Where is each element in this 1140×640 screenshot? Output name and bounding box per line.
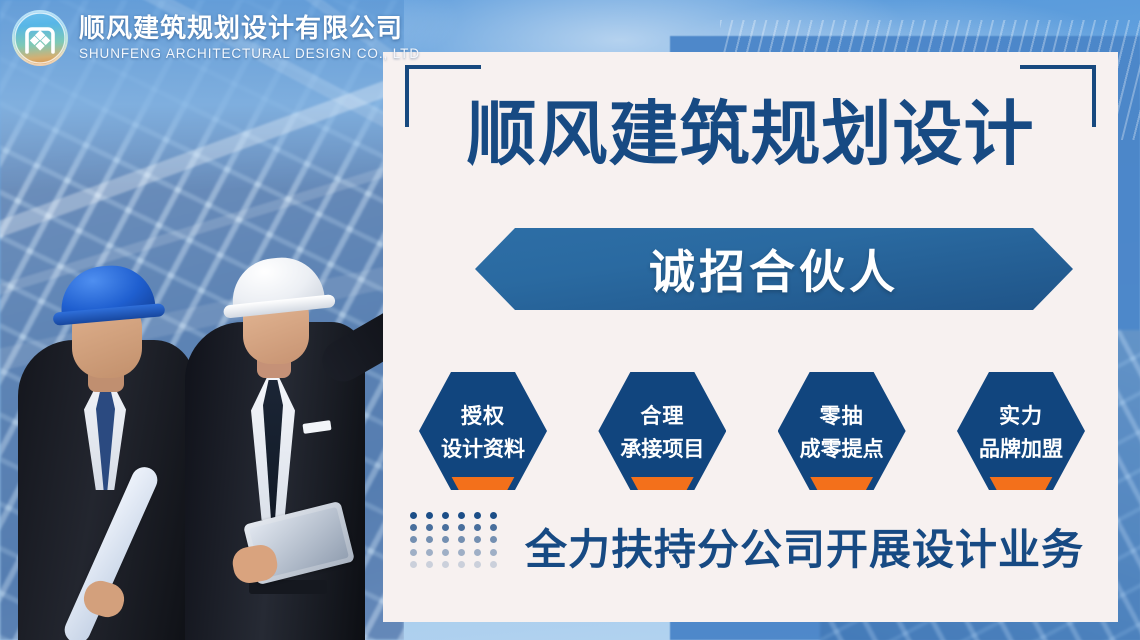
grid-dot — [426, 524, 433, 531]
promo-banner: 顺风建筑规划设计有限公司 SHUNFENG ARCHITECTURAL DESI… — [0, 0, 1140, 640]
badge-hexagon: 合理 承接项目 — [598, 372, 726, 490]
badge-line-1: 授权 — [461, 400, 505, 430]
brand-text: 顺风建筑规划设计有限公司 SHUNFENG ARCHITECTURAL DESI… — [79, 15, 420, 61]
engineer-right — [175, 240, 404, 640]
grid-dot — [410, 524, 417, 531]
engineer-left — [10, 280, 200, 640]
badge-accent-foot — [598, 477, 726, 490]
grid-dot — [490, 524, 497, 531]
grid-dot — [490, 536, 497, 543]
brand-logo-lockup: 顺风建筑规划设计有限公司 SHUNFENG ARCHITECTURAL DESI… — [12, 10, 420, 66]
badge-hexagon: 实力 品牌加盟 — [957, 372, 1085, 490]
tagline-text: 全力扶持分公司开展设计业务 — [525, 516, 1084, 577]
badge-accent-foot — [957, 477, 1085, 490]
badge-hexagon: 授权 设计资料 — [419, 372, 547, 490]
white-hardhat-icon — [229, 253, 326, 314]
grid-dot — [426, 512, 433, 519]
page-title-text: 顺风建筑规划设计 — [467, 93, 1035, 175]
grid-dot — [426, 561, 433, 568]
grid-dot — [458, 561, 465, 568]
grid-dot — [490, 561, 497, 568]
badge-line-2: 承接项目 — [620, 433, 704, 463]
feature-badge[interactable]: 合理 承接项目 — [598, 372, 726, 490]
grid-dot — [474, 524, 481, 531]
feature-badge[interactable]: 零抽 成零提点 — [778, 372, 906, 490]
grid-dot — [426, 536, 433, 543]
recruit-ribbon: 诚招合伙人 — [475, 228, 1073, 310]
engineers-photo — [0, 0, 404, 640]
dot-grid-decoration — [405, 509, 501, 583]
grid-dot — [442, 561, 449, 568]
shunfeng-arch-logo-icon — [12, 10, 68, 66]
feature-badge-row: 授权 设计资料 合理 承接项目 零抽 成零提点 — [419, 372, 1085, 490]
grid-dot — [442, 512, 449, 519]
grid-dot — [474, 536, 481, 543]
badge-hexagon: 零抽 成零提点 — [778, 372, 906, 490]
grid-dot — [490, 512, 497, 519]
badge-line-2: 品牌加盟 — [979, 433, 1063, 463]
badge-line-2: 成零提点 — [800, 433, 884, 463]
grid-dot — [458, 524, 465, 531]
grid-dot — [442, 549, 449, 556]
grid-dot — [474, 512, 481, 519]
page-title: 顺风建筑规划设计 — [383, 78, 1118, 179]
grid-dot — [410, 536, 417, 543]
brand-name-cn: 顺风建筑规划设计有限公司 — [79, 15, 420, 41]
badge-line-1: 合理 — [640, 400, 684, 430]
feature-badge[interactable]: 实力 品牌加盟 — [957, 372, 1085, 490]
grid-dot — [458, 549, 465, 556]
grid-dot — [442, 536, 449, 543]
grid-dot — [410, 561, 417, 568]
recruit-ribbon-text: 诚招合伙人 — [649, 236, 899, 302]
badge-accent-foot — [778, 477, 906, 490]
content-panel: 顺风建筑规划设计 诚招合伙人 授权 设计资料 合理 承接项目 — [383, 52, 1118, 622]
grid-dot — [410, 512, 417, 519]
badge-line-2: 设计资料 — [441, 433, 525, 463]
feature-badge[interactable]: 授权 设计资料 — [419, 372, 547, 490]
grid-dot — [458, 536, 465, 543]
grid-dot — [442, 524, 449, 531]
grid-dot — [410, 549, 417, 556]
badge-line-1: 实力 — [999, 400, 1043, 430]
tagline-row: 全力扶持分公司开展设计业务 — [405, 504, 1108, 588]
grid-dot — [458, 512, 465, 519]
grid-dot — [474, 561, 481, 568]
grid-dot — [490, 549, 497, 556]
grid-dot — [426, 549, 433, 556]
brand-name-en: SHUNFENG ARCHITECTURAL DESIGN CO., LTD — [79, 47, 420, 61]
badge-accent-foot — [419, 477, 547, 490]
grid-dot — [474, 549, 481, 556]
badge-line-1: 零抽 — [820, 400, 864, 430]
